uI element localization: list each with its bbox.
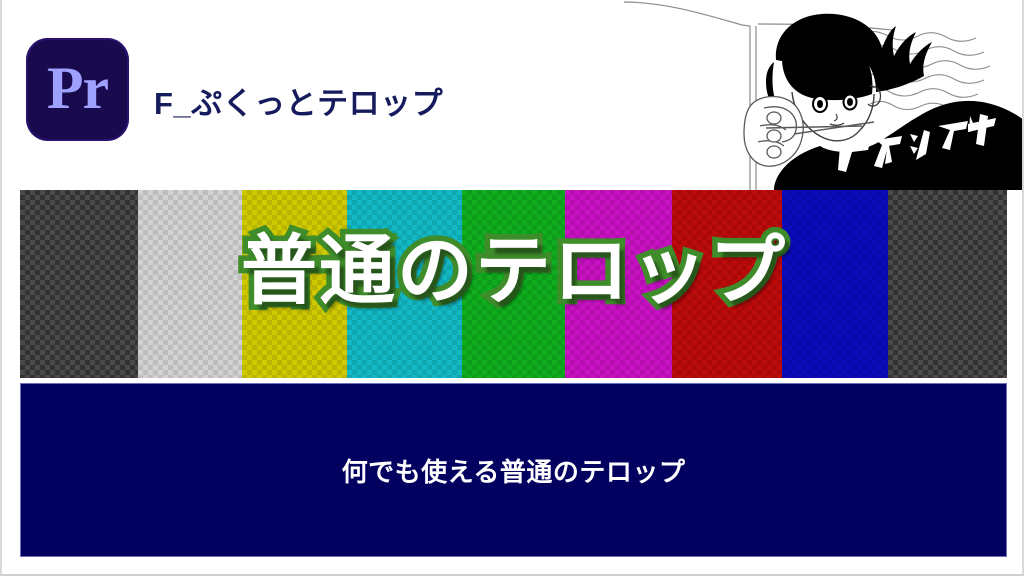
manga-character-svg [624, 0, 1024, 190]
telop-main-title: 普通のテロップ [2, 228, 1024, 315]
manga-character-illustration [624, 0, 1024, 190]
premiere-pro-logo-label: Pr [26, 38, 129, 141]
premiere-pro-logo: Pr [26, 38, 129, 141]
page-title: F_ぷくっとテロップ [154, 78, 443, 123]
header-band: Pr F_ぷくっとテロップ [2, 0, 1024, 188]
slide-canvas: Pr F_ぷくっとテロップ [0, 0, 1024, 576]
lower-third-panel: 何でも使える普通のテロップ [20, 383, 1007, 557]
lower-third-caption: 何でも使える普通のテロップ [21, 452, 1006, 489]
